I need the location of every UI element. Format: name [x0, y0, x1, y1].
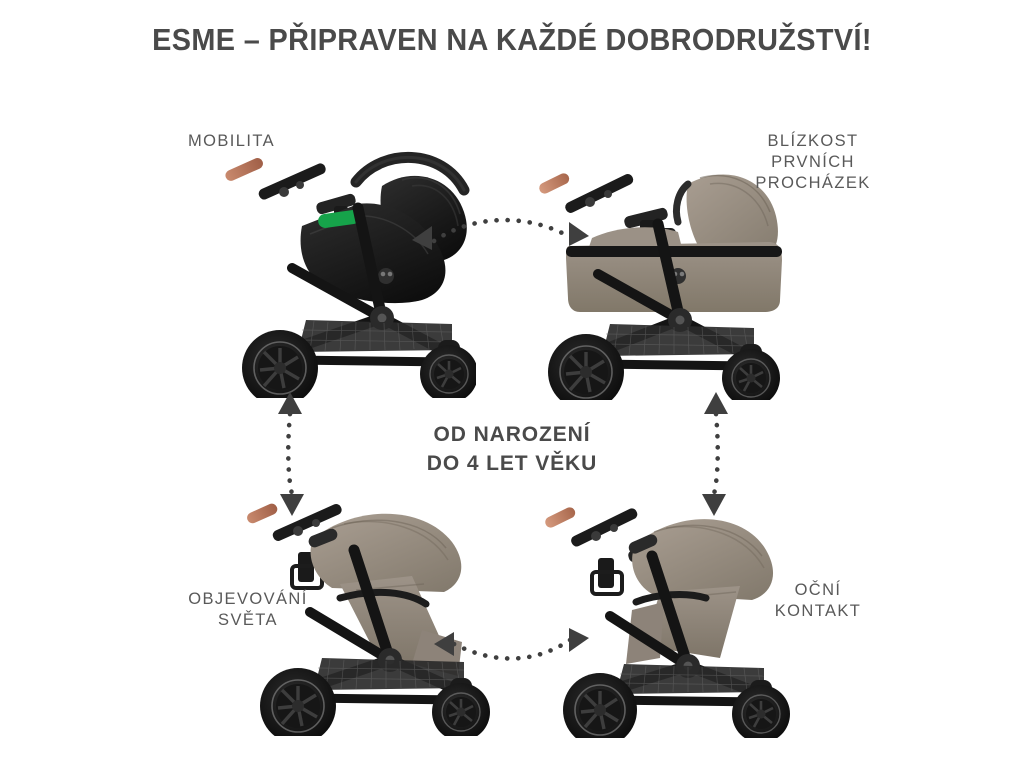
arrow-top-double-headed	[408, 206, 593, 266]
product-image-infant-car-seat	[206, 142, 476, 398]
arrow-right-double-headed	[694, 386, 740, 521]
storage-basket	[298, 320, 452, 352]
arrow-left-double-headed	[268, 386, 314, 521]
label-ocni-kontakt: OČNÍ KONTAKT	[748, 580, 888, 622]
page-title: ESME – PŘIPRAVEN NA KAŽDÉ DOBRODRUŽSTVÍ!	[36, 22, 988, 58]
center-caption: OD NAROZENÍ DO 4 LET VĚKU	[382, 420, 642, 478]
storage-basket	[616, 664, 764, 694]
label-blizkost-prvnich-prochazek: BLÍZKOST PRVNÍCH PROCHÁZEK	[728, 131, 898, 194]
label-mobilita: MOBILITA	[188, 131, 275, 152]
label-objevovani-sveta: OBJEVOVÁNÍ SVĚTA	[168, 589, 328, 631]
infographic-canvas: ESME – PŘIPRAVEN NA KAŽDÉ DOBRODRUŽSTVÍ!	[0, 0, 1024, 768]
cup-holder	[592, 558, 622, 594]
storage-basket	[602, 324, 754, 356]
carrycot-trim	[566, 246, 782, 257]
arrow-bottom-double-headed	[428, 618, 593, 673]
